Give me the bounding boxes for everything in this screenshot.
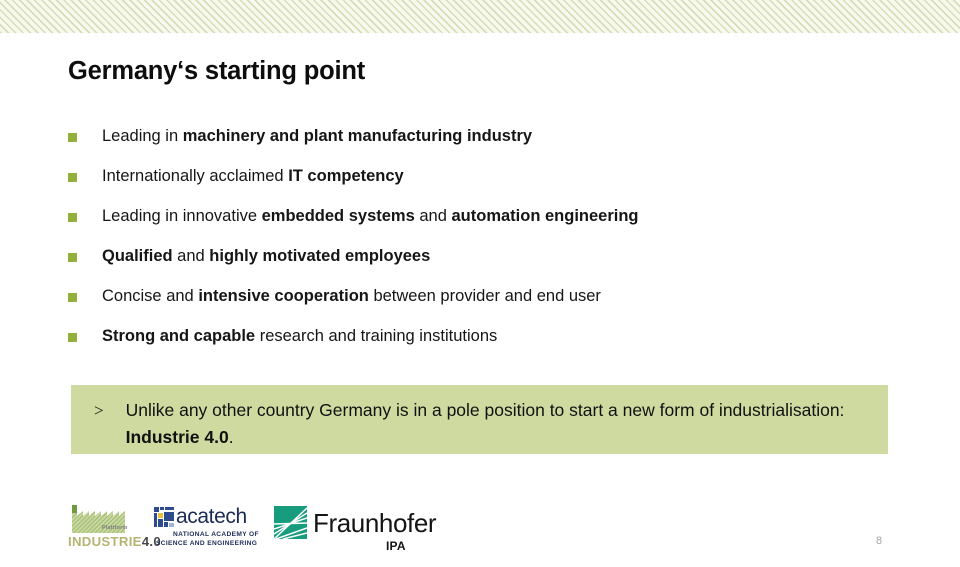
list-item: Internationally acclaimed IT competency <box>68 166 928 206</box>
logo-acatech-subtitle-line2: SCIENCE AND ENGINEERING <box>156 540 257 547</box>
top-decorative-stripe-band <box>0 0 960 33</box>
logo-plattform-label: Plattform <box>102 525 127 531</box>
list-item-text: Leading in machinery and plant manufactu… <box>102 126 532 146</box>
logo-fraunhofer-institute: IPA <box>386 539 406 553</box>
square-bullet-icon <box>68 213 77 222</box>
square-bullet-icon <box>68 133 77 142</box>
logo-fraunhofer-ipa: Fraunhofer IPA <box>274 504 419 552</box>
list-item-text: Strong and capable research and training… <box>102 326 497 346</box>
chevron-right-marker-icon: > <box>94 397 104 424</box>
list-item-text: Qualified and highly motivated employees <box>102 246 430 266</box>
list-item: Leading in machinery and plant manufactu… <box>68 126 928 166</box>
bullet-list: Leading in machinery and plant manufactu… <box>68 126 928 366</box>
list-item: Concise and intensive cooperation betwee… <box>68 286 928 326</box>
logo-industrie40-wordmark: INDUSTRIE4.0 <box>68 534 161 549</box>
logo-fraunhofer-wordmark: Fraunhofer <box>313 508 436 539</box>
acatech-mark-icon <box>154 507 174 527</box>
page-number: 8 <box>876 535 882 547</box>
square-bullet-icon <box>68 293 77 302</box>
logo-acatech-subtitle-line1: NATIONAL ACADEMY OF <box>173 531 259 538</box>
square-bullet-icon <box>68 253 77 262</box>
logo-acatech: acatech NATIONAL ACADEMY OF SCIENCE AND … <box>154 505 264 551</box>
list-item: Strong and capable research and training… <box>68 326 928 366</box>
square-bullet-icon <box>68 173 77 182</box>
callout-text: Unlike any other country Germany is in a… <box>126 397 874 451</box>
callout-content: > Unlike any other country Germany is in… <box>94 397 874 451</box>
page-title: Germany‘s starting point <box>68 57 365 86</box>
logo-industrie-text: INDUSTRIE <box>68 534 142 549</box>
list-item: Qualified and highly motivated employees <box>68 246 928 286</box>
list-item: Leading in innovative embedded systems a… <box>68 206 928 246</box>
slide-canvas: Germany‘s starting point Leading in mach… <box>0 0 960 567</box>
callout-box: > Unlike any other country Germany is in… <box>71 385 888 454</box>
list-item-text: Leading in innovative embedded systems a… <box>102 206 639 226</box>
square-bullet-icon <box>68 333 77 342</box>
logo-acatech-wordmark: acatech <box>176 505 247 529</box>
fraunhofer-mark-icon <box>274 506 307 539</box>
logo-plattform-industrie-40: Plattform INDUSTRIE4.0 <box>68 505 140 550</box>
list-item-text: Internationally acclaimed IT competency <box>102 166 404 186</box>
list-item-text: Concise and intensive cooperation betwee… <box>102 286 601 306</box>
